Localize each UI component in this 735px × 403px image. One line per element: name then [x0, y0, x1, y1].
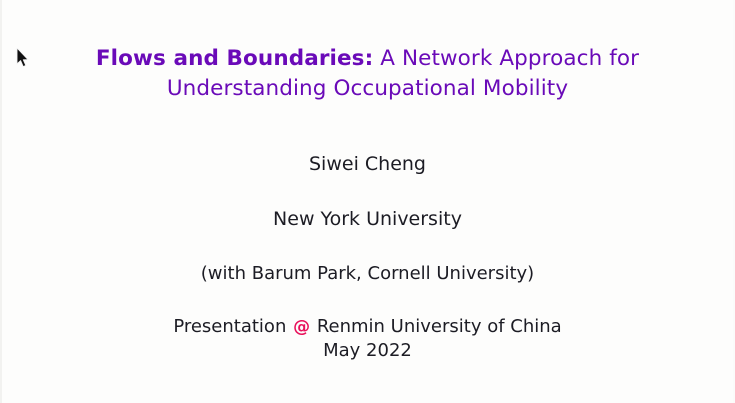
presentation-title-slide: Flows and Boundaries: A Network Approach… [0, 0, 735, 403]
title-subtitle-part-1: A Network Approach for [373, 46, 639, 71]
presentation-date: May 2022 [173, 339, 561, 363]
slide-title: Flows and Boundaries: A Network Approach… [0, 44, 735, 104]
venue-line: Presentation @ Renmin University of Chin… [173, 315, 561, 339]
at-sign-icon: @ [292, 317, 311, 337]
title-line-2: Understanding Occupational Mobility [0, 74, 735, 104]
venue-institution: Renmin University of China [317, 316, 562, 337]
venue-prefix-label: Presentation [173, 316, 286, 337]
venue-and-date: Presentation @ Renmin University of Chin… [173, 315, 561, 363]
title-line-1: Flows and Boundaries: A Network Approach… [0, 44, 735, 74]
coauthor-note: (with Barum Park, Cornell University) [201, 261, 534, 287]
author-affiliation: New York University [273, 206, 462, 232]
title-main-phrase: Flows and Boundaries: [96, 46, 373, 71]
author-name: Siwei Cheng [309, 151, 426, 177]
